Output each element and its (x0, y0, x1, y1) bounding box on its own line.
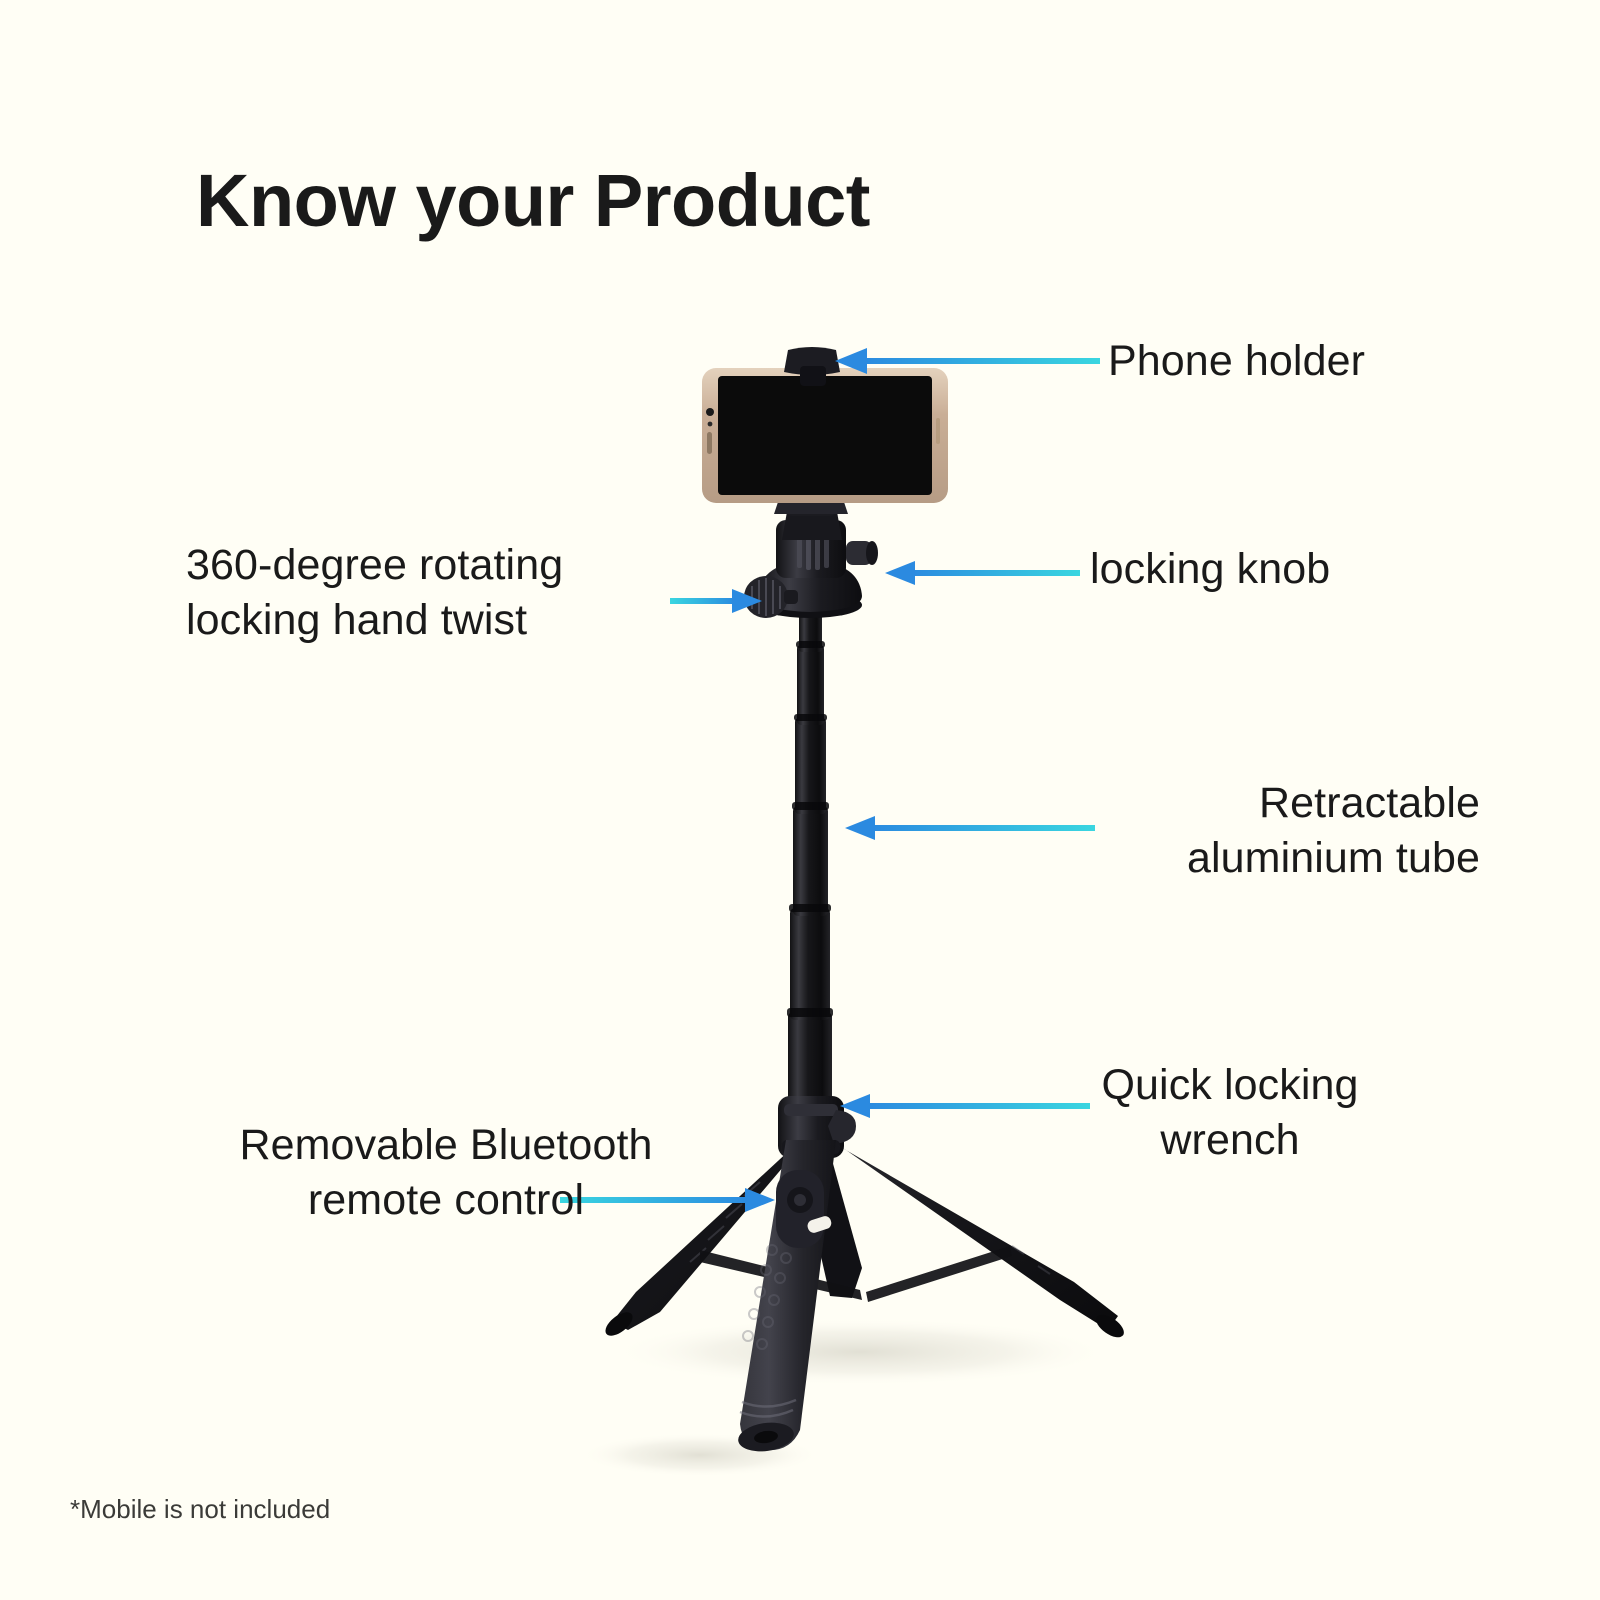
callout-label-bluetooth-remote: Removable Bluetooth remote control (196, 1118, 696, 1228)
retractable-aluminium-tube-graphic (787, 600, 833, 1116)
smartphone-graphic (702, 368, 948, 503)
callout-arrow-quick-locking-wrench (840, 1093, 1090, 1119)
callout-label-retractable-tube-line2: aluminium tube (1040, 831, 1480, 886)
infographic-canvas: Know your Product (0, 0, 1600, 1600)
callout-label-hand-twist-line2: locking hand twist (186, 593, 656, 648)
callout-label-retractable-tube-line1: Retractable (1040, 776, 1480, 831)
footnote-mobile-not-included: *Mobile is not included (70, 1494, 330, 1525)
callout-label-quick-locking-wrench-line1: Quick locking (1055, 1058, 1405, 1113)
callout-arrow-phone-holder (835, 348, 1100, 374)
callout-label-phone-holder: Phone holder (1108, 334, 1438, 389)
callout-label-quick-locking-wrench: Quick locking wrench (1055, 1058, 1405, 1168)
callout-label-hand-twist-line1: 360-degree rotating (186, 538, 656, 593)
callout-label-hand-twist: 360-degree rotating locking hand twist (186, 538, 656, 648)
callout-label-bluetooth-remote-line2: remote control (196, 1173, 696, 1228)
callout-label-retractable-tube: Retractable aluminium tube (1040, 776, 1480, 886)
callout-label-quick-locking-wrench-line2: wrench (1055, 1113, 1405, 1168)
callout-arrow-hand-twist (670, 588, 762, 614)
callout-label-bluetooth-remote-line1: Removable Bluetooth (196, 1118, 696, 1173)
callout-label-locking-knob: locking knob (1090, 542, 1450, 597)
callout-arrow-locking-knob (885, 560, 1080, 586)
